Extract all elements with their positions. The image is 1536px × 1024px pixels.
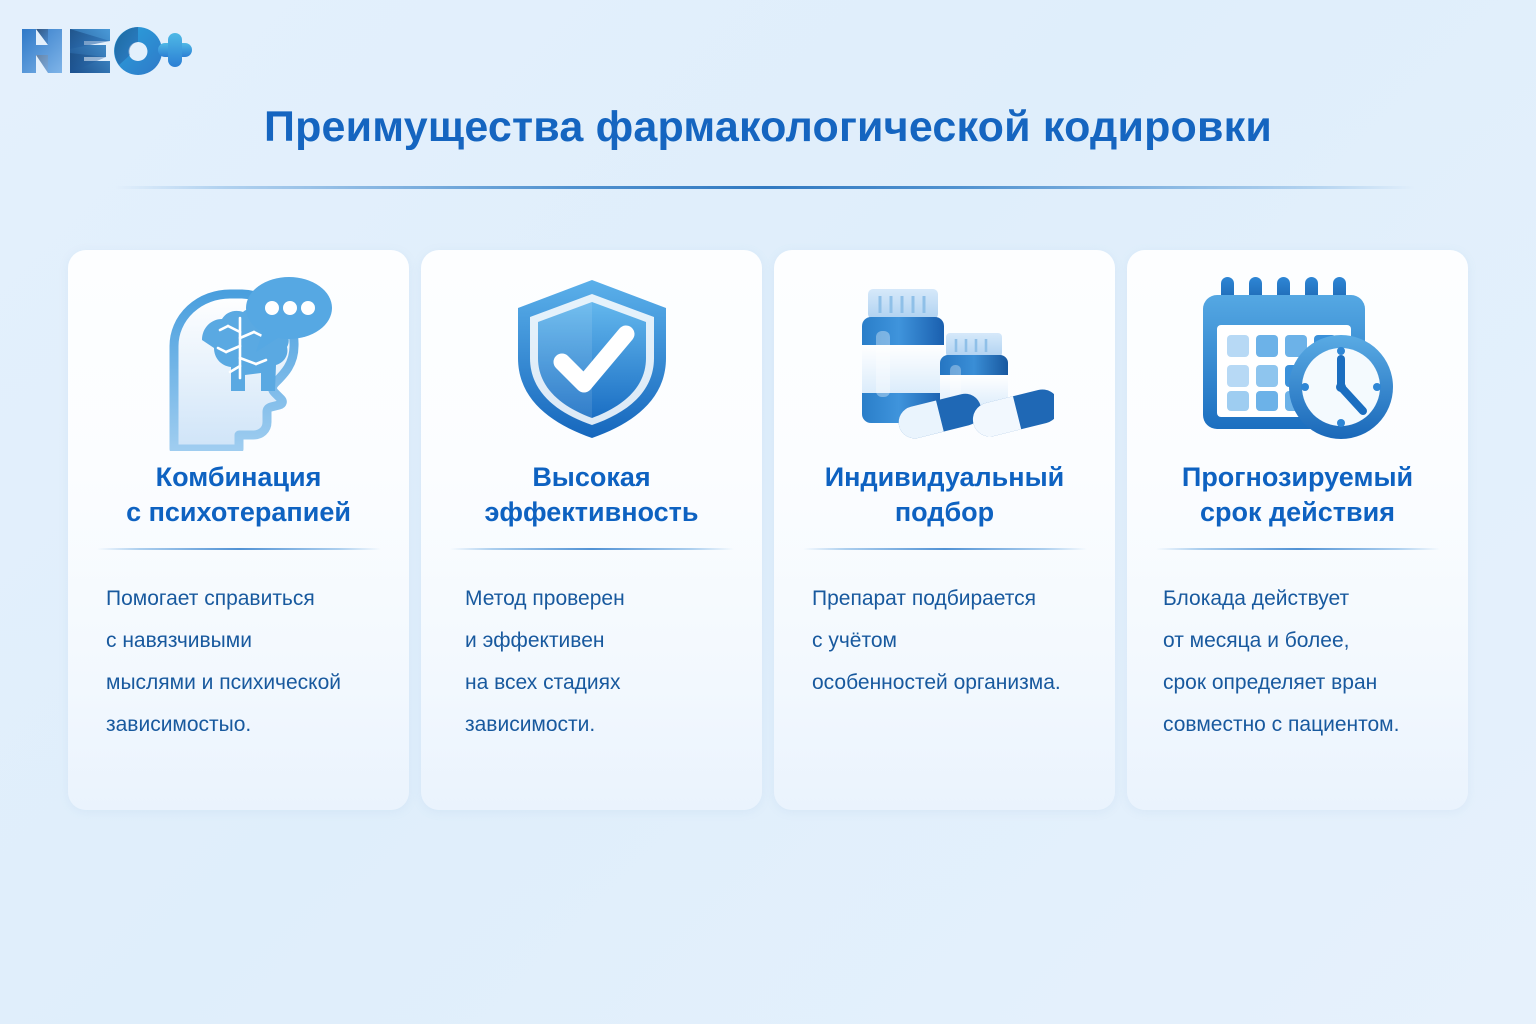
head-brain-speech-icon: [84, 250, 393, 460]
card-body-line: Препарат подбирается: [812, 578, 1085, 620]
card-heading-line: эффективность: [484, 497, 698, 527]
card-heading-line: срок действия: [1200, 497, 1395, 527]
benefit-card-predictable-duration[interactable]: Прогнозируемый срок действия Блокада дей…: [1127, 250, 1468, 810]
card-divider: [450, 548, 734, 550]
card-body: Препарат подбирается с учётом особенност…: [790, 578, 1099, 704]
card-body-line: Блокада действует: [1163, 578, 1438, 620]
card-divider: [803, 548, 1087, 550]
brand-logo: [18, 22, 193, 80]
card-heading-line: Индивидуальный: [825, 462, 1065, 492]
card-heading: Индивидуальный подбор: [825, 460, 1065, 540]
card-body-line: особенностей организма.: [812, 662, 1085, 704]
benefit-cards-row: Комбинация с психотерапией Помогает спра…: [68, 250, 1468, 810]
card-body-line: мыслями и психической: [106, 662, 379, 704]
shield-check-icon: [437, 250, 746, 460]
card-heading: Комбинация с психотерапией: [126, 460, 351, 540]
title-block: Преимущества фармакологической кодировки: [0, 104, 1536, 150]
card-body-line: на всех стадиях: [465, 662, 732, 704]
card-body-line: Помогает справиться: [106, 578, 379, 620]
calendar-clock-icon: [1143, 250, 1452, 460]
benefit-card-effectiveness[interactable]: Высокая эффективность Метод проверен и э…: [421, 250, 762, 810]
card-body-line: с учётом: [812, 620, 1085, 662]
title-divider: [115, 186, 1415, 189]
card-heading-line: Комбинация: [156, 462, 322, 492]
card-heading-line: Прогнозируемый: [1182, 462, 1413, 492]
page-title: Преимущества фармакологической кодировки: [0, 104, 1536, 150]
pill-bottles-icon: [790, 250, 1099, 460]
card-divider: [97, 548, 381, 550]
card-heading-line: Высокая: [532, 462, 650, 492]
card-body-line: Метод проверен: [465, 578, 732, 620]
card-body: Метод проверен и эффективен на всех стад…: [437, 578, 746, 746]
card-body: Блокада действует от месяца и более, сро…: [1143, 578, 1452, 746]
card-body-line: зависимостыо.: [106, 704, 379, 746]
card-heading-line: с психотерапией: [126, 497, 351, 527]
neo-plus-logo-icon: [18, 25, 193, 77]
card-body-line: и эффективен: [465, 620, 732, 662]
card-body-line: срок определяет вран: [1163, 662, 1438, 704]
benefit-card-individual-selection[interactable]: Индивидуальный подбор Препарат подбирает…: [774, 250, 1115, 810]
card-body-line: с навязчивыми: [106, 620, 379, 662]
card-body: Помогает справиться с навязчивыми мыслям…: [84, 578, 393, 746]
benefit-card-combination[interactable]: Комбинация с психотерапией Помогает спра…: [68, 250, 409, 810]
card-heading: Высокая эффективность: [484, 460, 698, 540]
card-body-line: зависимости.: [465, 704, 732, 746]
card-heading-line: подбор: [895, 497, 994, 527]
card-heading: Прогнозируемый срок действия: [1182, 460, 1413, 540]
card-divider: [1156, 548, 1440, 550]
card-body-line: совместно с пациентом.: [1163, 704, 1438, 746]
card-body-line: от месяца и более,: [1163, 620, 1438, 662]
